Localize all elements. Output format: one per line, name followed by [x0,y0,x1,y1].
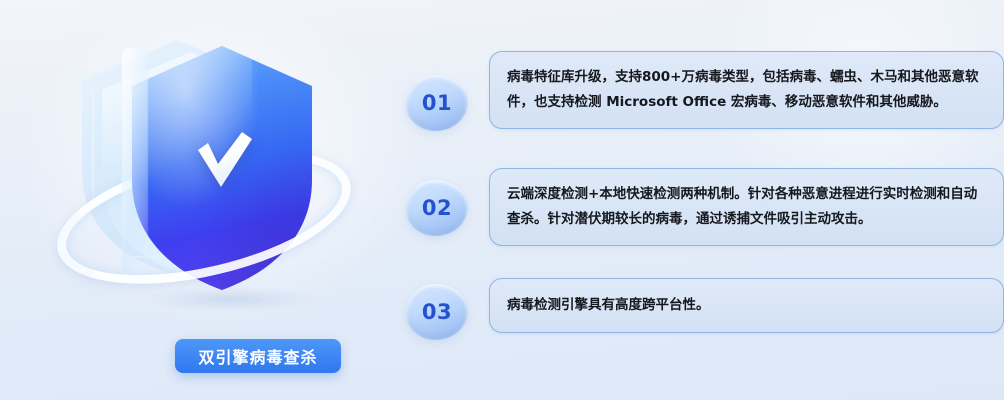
feature-text-card-02: 云端深度检测+本地快速检测两种机制。针对各种恶意进程进行实时检测和自动查杀。针对… [489,168,1004,246]
shield-check-icon [44,18,384,318]
hero-label-button[interactable]: 双引擎病毒查杀 [175,339,341,373]
badge-number-label: 02 [406,180,468,236]
feature-list: 01 病毒特征库升级，支持800+万病毒类型，包括病毒、蠕虫、木马和其他恶意软件… [406,44,1004,344]
feature-number-badge-02: 02 [406,180,468,236]
badge-number-label: 03 [406,284,468,340]
feature-panel: 双引擎病毒查杀 01 病毒特征库升级，支持800+万病毒类型，包括病毒、蠕虫、木… [0,0,1004,400]
feature-text-card-01: 病毒特征库升级，支持800+万病毒类型，包括病毒、蠕虫、木马和其他恶意软件，也支… [489,51,1004,129]
feature-item-03: 03 病毒检测引擎具有高度跨平台性。 [406,278,1004,340]
badge-number-label: 01 [406,75,468,131]
feature-text-card-03: 病毒检测引擎具有高度跨平台性。 [489,278,1004,333]
feature-number-badge-01: 01 [406,75,468,131]
feature-item-01: 01 病毒特征库升级，支持800+万病毒类型，包括病毒、蠕虫、木马和其他恶意软件… [406,51,1004,131]
shield-ground-shadow [140,286,320,312]
feature-number-badge-03: 03 [406,284,468,340]
feature-item-02: 02 云端深度检测+本地快速检测两种机制。针对各种恶意进程进行实时检测和自动查杀… [406,168,1004,246]
orbit-ring-front [54,158,354,276]
hero-illustration: 双引擎病毒查杀 [44,18,384,318]
